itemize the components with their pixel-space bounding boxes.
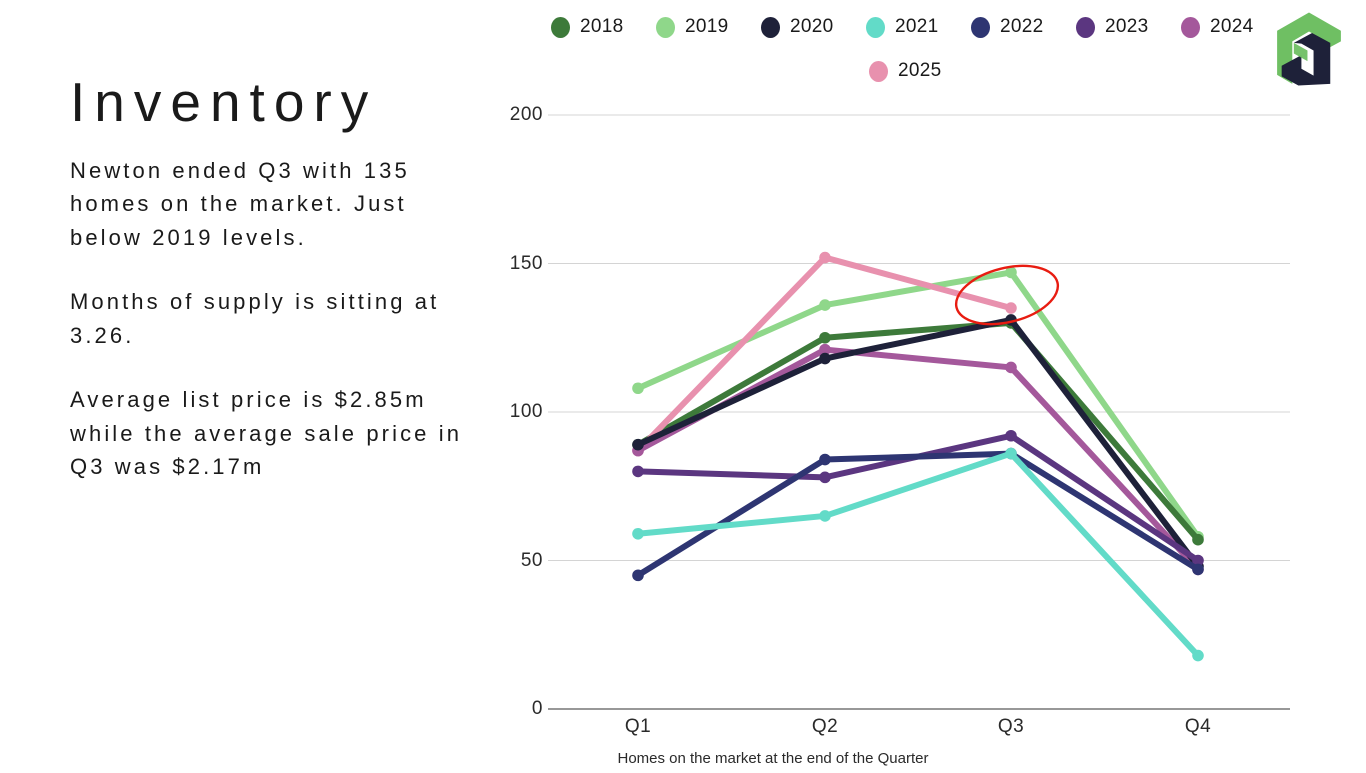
series-line-2023	[638, 436, 1198, 561]
x-tick-label-q2: Q2	[785, 716, 865, 738]
series-line-2021	[638, 454, 1198, 656]
data-point-2019-Q4	[1192, 531, 1204, 543]
slide-text-panel: Inventory Newton ended Q3 with 135 homes…	[70, 74, 470, 484]
legend-item-2020[interactable]: 2020	[761, 16, 866, 38]
legend-swatch-icon-2025	[869, 61, 888, 82]
y-tick-label-0: 0	[483, 698, 543, 720]
legend-label-2023: 2023	[1105, 16, 1148, 38]
data-point-2024-Q1	[632, 445, 644, 457]
series-line-2025	[638, 258, 1011, 451]
data-point-2020-Q3	[1005, 314, 1017, 326]
legend-label-2019: 2019	[685, 16, 728, 38]
x-axis-title: Homes on the market at the end of the Qu…	[0, 750, 1366, 767]
data-point-2024-Q2	[819, 344, 831, 356]
series-line-2019	[638, 272, 1198, 536]
data-point-2023-Q4	[1192, 555, 1204, 567]
data-point-2023-Q1	[632, 466, 644, 478]
legend-label-2024: 2024	[1210, 16, 1253, 38]
data-point-2022-Q2	[819, 454, 831, 466]
series-line-2018	[638, 323, 1198, 540]
legend-swatch-icon-2023	[1076, 17, 1095, 38]
slide-paragraph-3: Average list price is $2.85m while the a…	[70, 383, 470, 484]
data-point-2018-Q2	[819, 332, 831, 344]
y-tick-label-50: 50	[483, 550, 543, 572]
x-tick-label-q3: Q3	[971, 716, 1051, 738]
data-point-2019-Q3	[1005, 267, 1017, 279]
red-ellipse-highlight	[950, 256, 1064, 334]
legend-label-2025: 2025	[898, 60, 941, 82]
data-point-2019-Q2	[819, 299, 831, 311]
data-point-2024-Q4	[1192, 564, 1204, 576]
data-point-2021-Q3	[1005, 448, 1017, 460]
series-line-2020	[638, 320, 1198, 567]
legend-swatch-icon-2024	[1181, 17, 1200, 38]
data-point-2020-Q1	[632, 439, 644, 451]
legend-item-2021[interactable]: 2021	[866, 16, 971, 38]
legend-item-2025[interactable]: 2025	[869, 60, 974, 82]
data-point-2018-Q4	[1192, 534, 1204, 546]
series-line-2022	[638, 454, 1198, 576]
data-point-2018-Q3	[1005, 317, 1017, 329]
data-point-2018-Q1	[632, 439, 644, 451]
page-title: Inventory	[70, 74, 470, 132]
legend-row-primary: 2018 2019 2020 2021 2022 2023 2024	[551, 16, 1291, 38]
data-point-2023-Q3	[1005, 430, 1017, 442]
company-logo-icon	[1270, 8, 1348, 90]
legend-row-secondary: 2025	[551, 60, 1291, 82]
legend-item-2018[interactable]: 2018	[551, 16, 656, 38]
legend-swatch-icon-2022	[971, 17, 990, 38]
x-axis-title-text: Homes on the market at the end of the Qu…	[617, 750, 928, 767]
slide-paragraph-2: Months of supply is sitting at 3.26.	[70, 285, 470, 352]
slide-paragraph-1: Newton ended Q3 with 135 homes on the ma…	[70, 154, 470, 255]
legend-swatch-icon-2020	[761, 17, 780, 38]
data-point-2024-Q3	[1005, 362, 1017, 374]
legend-swatch-icon-2019	[656, 17, 675, 38]
data-point-2019-Q1	[632, 382, 644, 394]
legend-label-2018: 2018	[580, 16, 623, 38]
data-point-2021-Q2	[819, 510, 831, 522]
y-tick-label-100: 100	[483, 401, 543, 423]
legend-item-2022[interactable]: 2022	[971, 16, 1076, 38]
data-point-2021-Q1	[632, 528, 644, 540]
data-point-2025-Q1	[632, 445, 644, 457]
y-tick-label-200: 200	[483, 104, 543, 126]
legend-item-2023[interactable]: 2023	[1076, 16, 1181, 38]
legend-label-2021: 2021	[895, 16, 938, 38]
series-line-2024	[638, 350, 1198, 570]
x-tick-label-q1: Q1	[598, 716, 678, 738]
x-tick-label-q4: Q4	[1158, 716, 1238, 738]
data-point-2022-Q1	[632, 570, 644, 582]
data-point-2020-Q4	[1192, 561, 1204, 573]
chart-legend: 2018 2019 2020 2021 2022 2023 2024	[551, 16, 1291, 82]
y-tick-label-150: 150	[483, 253, 543, 275]
legend-swatch-icon-2018	[551, 17, 570, 38]
data-point-2021-Q4	[1192, 650, 1204, 662]
data-point-2023-Q2	[819, 472, 831, 484]
company-logo	[1270, 8, 1348, 90]
legend-label-2020: 2020	[790, 16, 833, 38]
legend-item-2019[interactable]: 2019	[656, 16, 761, 38]
legend-swatch-icon-2021	[866, 17, 885, 38]
data-point-2022-Q3	[1005, 448, 1017, 460]
data-point-2025-Q3	[1005, 302, 1017, 314]
data-point-2020-Q2	[819, 353, 831, 365]
data-point-2022-Q4	[1192, 564, 1204, 576]
legend-label-2022: 2022	[1000, 16, 1043, 38]
data-point-2025-Q2	[819, 252, 831, 264]
